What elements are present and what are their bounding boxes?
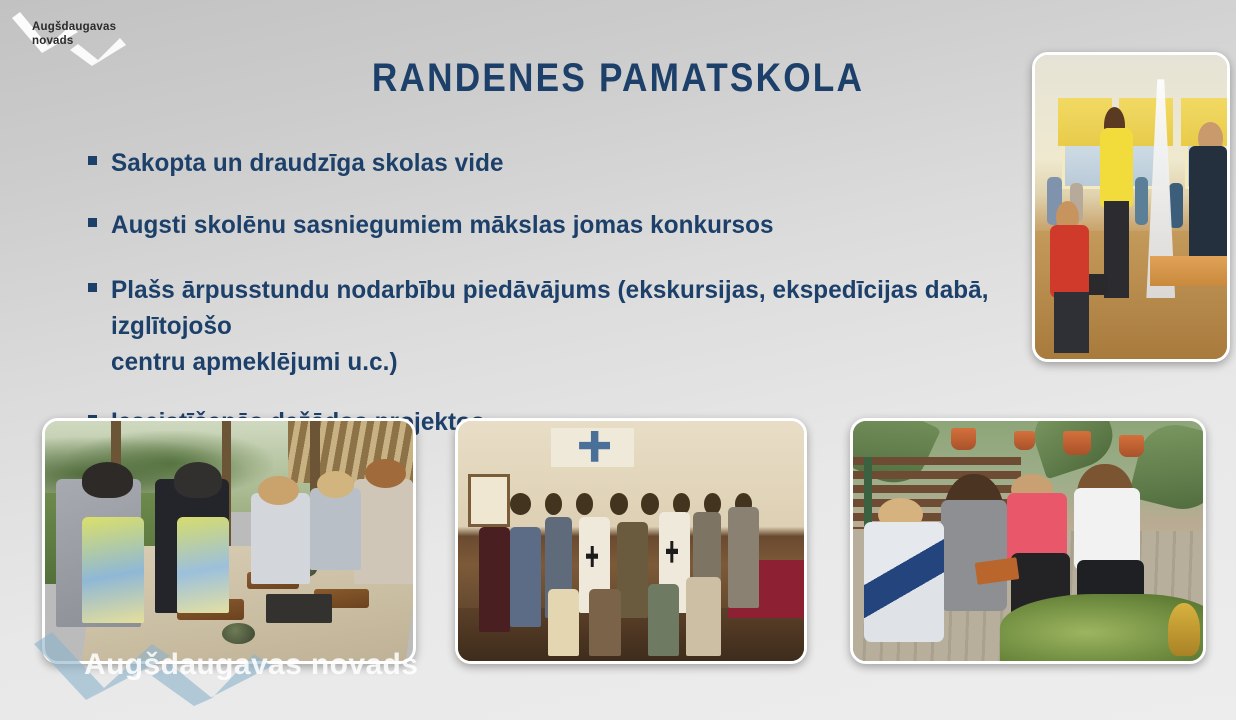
photo-botanical-garden-visit xyxy=(850,418,1206,664)
watermark: Augšdaugavas novads xyxy=(26,620,426,706)
list-item: Augsti skolēnu sasniegumiem mākslas joma… xyxy=(88,207,1048,243)
bullet-text: Plašs ārpusstundu nodarbību piedāvājums … xyxy=(111,272,1020,381)
bullet-text: Augsti skolēnu sasniegumiem mākslas joma… xyxy=(111,207,774,243)
page-title: RANDENES PAMATSKOLA xyxy=(74,56,1162,101)
brand-logo-text: Augšdaugavas novads xyxy=(32,20,116,49)
watermark-text: Augšdaugavas novads xyxy=(84,648,418,682)
list-item: Sakopta un draudzīga skolas vide xyxy=(88,145,1048,181)
square-bullet-icon xyxy=(88,156,97,165)
list-item: Plašs ārpusstundu nodarbību piedāvājums … xyxy=(88,272,1048,381)
photo-classroom-cup-tower xyxy=(1032,52,1230,362)
square-bullet-icon xyxy=(88,218,97,227)
photo-medieval-costume-group xyxy=(455,418,807,664)
square-bullet-icon xyxy=(88,283,97,292)
bullet-text: Sakopta un draudzīga skolas vide xyxy=(111,145,504,181)
